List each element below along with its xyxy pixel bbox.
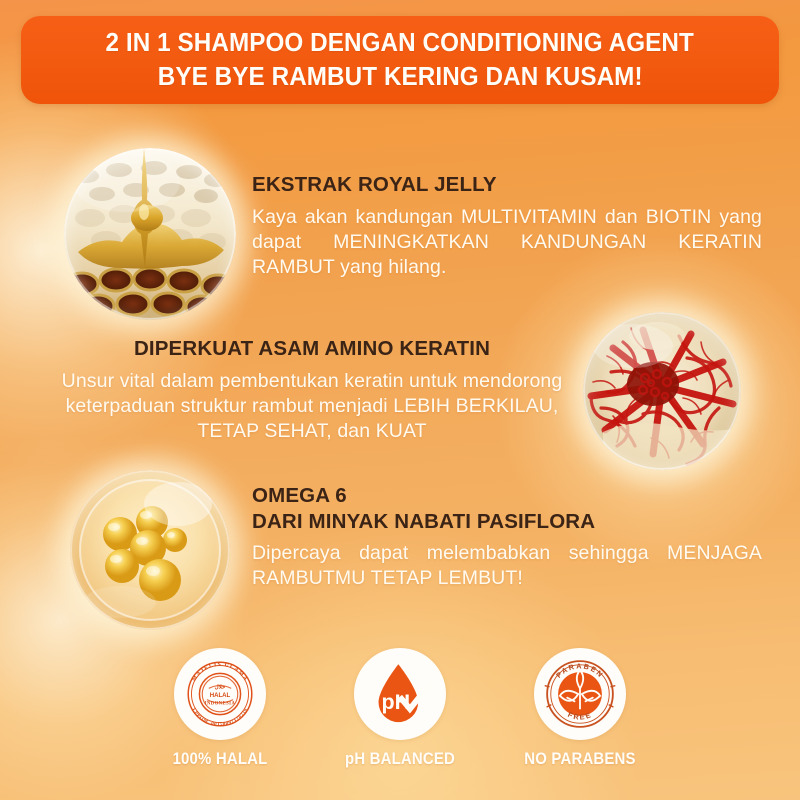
badge-ph-label: pH BALANCED [321, 749, 479, 769]
badge-halal-label: 100% HALAL [141, 749, 299, 769]
svg-text:INDONESIA: INDONESIA [205, 701, 236, 706]
badge-ph-balanced: pH pH BALANCED [310, 648, 490, 769]
mui-halal-stamp-icon: MAJELIS ULAMA LPPOM. 00150097170719 حلال… [177, 651, 263, 737]
section-omega6-subheading: DARI MINYAK NABATI PASIFLORA [252, 509, 762, 535]
section-royal-jelly-heading: EKSTRAK ROYAL JELLY [252, 172, 762, 198]
section-amino-keratin-body: Unsur vital dalam pembentukan keratin un… [48, 369, 576, 444]
oil-droplets-sphere-svg [70, 470, 230, 630]
svg-text:حلال: حلال [215, 683, 226, 690]
section-royal-jelly-text: EKSTRAK ROYAL JELLY Kaya akan kandungan … [252, 172, 762, 280]
section-amino-keratin-heading: DIPERKUAT ASAM AMINO KERATIN [48, 336, 576, 362]
badge-no-parabens: PARABEN FREE NO PARABENS [490, 648, 670, 769]
badge-paraben-disc: PARABEN FREE [534, 648, 626, 740]
keratin-fiber-network-image [583, 312, 741, 470]
section-omega6-heading: OMEGA 6 [252, 483, 762, 509]
section-amino-keratin-text: DIPERKUAT ASAM AMINO KERATIN Unsur vital… [48, 336, 576, 444]
badge-ph-disc: pH [354, 648, 446, 740]
banner-headline-line1: 2 IN 1 SHAMPOO DENGAN CONDITIONING AGENT [106, 26, 694, 60]
ph-droplet-check-icon: pH [362, 656, 438, 732]
svg-text:LPPOM. 00150097170719: LPPOM. 00150097170719 [190, 707, 249, 728]
header-banner: 2 IN 1 SHAMPOO DENGAN CONDITIONING AGENT… [21, 16, 779, 104]
badge-paraben-label: NO PARABENS [501, 749, 659, 769]
section-omega6-body: Dipercaya dapat melembabkan sehingga MEN… [252, 541, 762, 591]
honeycomb-honey-drip-svg [64, 148, 236, 320]
badge-halal-disc: MAJELIS ULAMA LPPOM. 00150097170719 حلال… [174, 648, 266, 740]
badge-halal: MAJELIS ULAMA LPPOM. 00150097170719 حلال… [130, 648, 310, 769]
oil-droplets-sphere-image [70, 470, 230, 630]
keratin-fiber-network-svg [583, 312, 741, 470]
svg-text:MAJELIS ULAMA: MAJELIS ULAMA [191, 662, 248, 683]
honeycomb-honey-drip-image [64, 148, 236, 320]
promo-poster: 2 IN 1 SHAMPOO DENGAN CONDITIONING AGENT… [0, 0, 800, 800]
section-royal-jelly-body: Kaya akan kandungan MULTIVITAMIN dan BIO… [252, 205, 762, 280]
svg-text:HALAL: HALAL [210, 693, 231, 699]
paraben-free-leaf-icon: PARABEN FREE [538, 652, 622, 736]
badge-row: MAJELIS ULAMA LPPOM. 00150097170719 حلال… [0, 648, 800, 768]
banner-headline-line2: BYE BYE RAMBUT KERING DAN KUSAM! [158, 60, 643, 94]
section-omega6-text: OMEGA 6 DARI MINYAK NABATI PASIFLORA Dip… [252, 483, 762, 591]
